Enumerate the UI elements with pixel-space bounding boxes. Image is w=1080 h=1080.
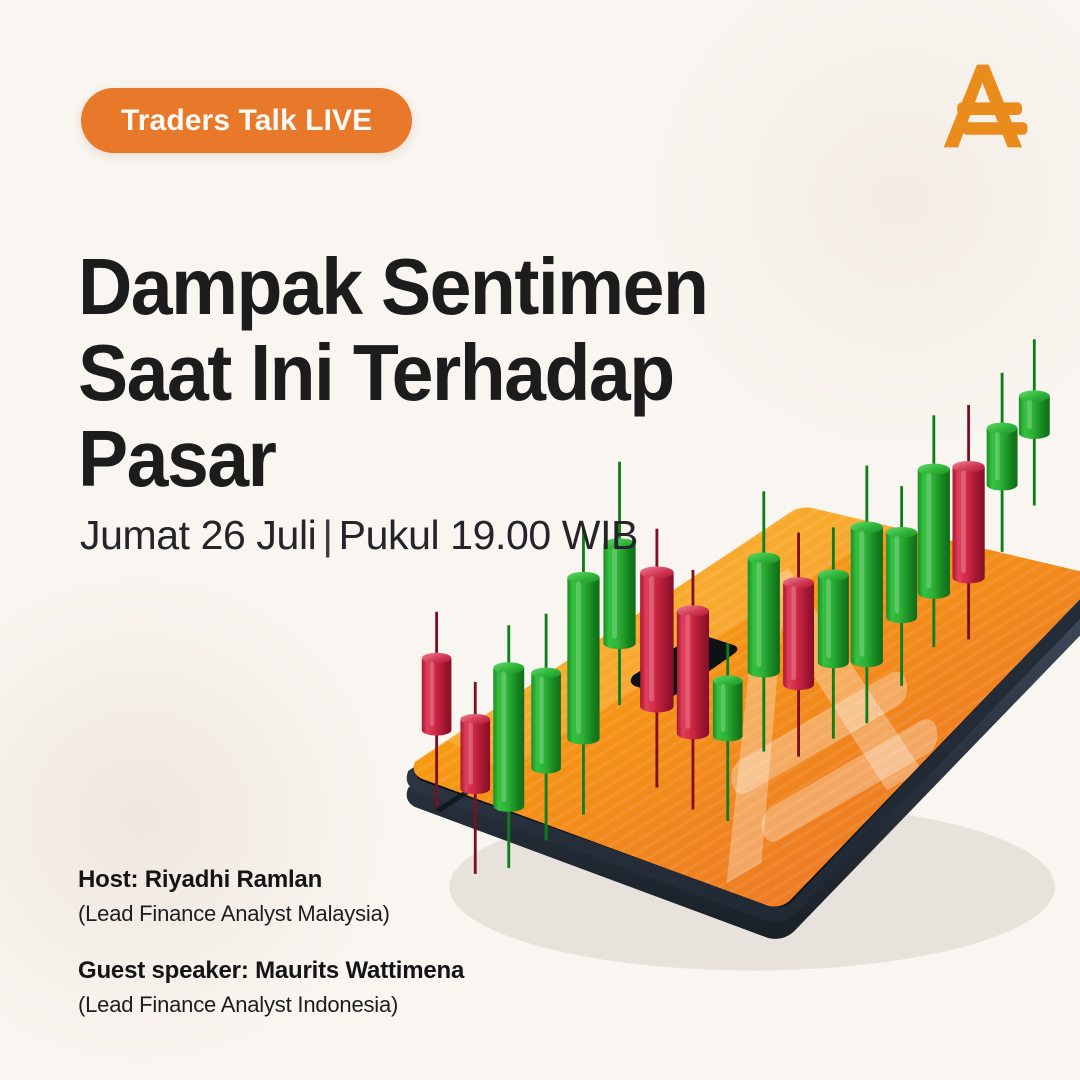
- candle-highlight: [826, 578, 831, 658]
- candle-wick-upper: [545, 614, 548, 677]
- event-date: Jumat 26 Juli: [80, 512, 316, 558]
- candle-top-cap: [713, 675, 743, 686]
- headline-line-1: Dampak Sentimen: [78, 244, 811, 330]
- candle-top-cap: [748, 553, 780, 565]
- event-time: Pukul 19.00 WIB: [339, 512, 638, 558]
- candle-highlight: [961, 470, 966, 573]
- candle-2: [460, 682, 490, 874]
- candle-top-cap: [783, 577, 814, 588]
- candle-body: [531, 673, 561, 774]
- guest-credit: Guest speaker: Maurits Wattimena (Lead F…: [78, 957, 548, 1018]
- candle-body: [953, 467, 985, 584]
- candle-top-cap: [640, 566, 673, 578]
- candle-highlight: [612, 548, 617, 639]
- candle-top-cap: [987, 423, 1018, 434]
- candle-top-cap: [460, 714, 490, 725]
- candle-top-cap: [818, 569, 849, 580]
- candle-body: [603, 544, 635, 649]
- candle-body: [886, 533, 917, 624]
- candle-highlight: [995, 432, 1000, 481]
- candle-highlight: [859, 531, 864, 657]
- candle-wick-lower: [832, 659, 835, 739]
- datetime-separator: |: [316, 512, 338, 558]
- candle-highlight: [576, 581, 581, 734]
- candle-body: [987, 428, 1018, 490]
- candle-body: [783, 583, 814, 690]
- guest-role: (Lead Finance Analyst Indonesia): [78, 992, 548, 1018]
- candle-body: [918, 469, 950, 598]
- candle-wick-lower: [545, 764, 548, 840]
- candle-wick-lower: [655, 703, 658, 788]
- candle-top-cap: [677, 605, 709, 617]
- candle-wick-lower: [762, 668, 765, 752]
- candle-top-cap: [1019, 390, 1050, 401]
- candle-wick-lower: [582, 735, 585, 815]
- candle-wick-upper: [967, 405, 970, 471]
- candle-highlight: [468, 723, 472, 785]
- candle-wick-lower: [474, 785, 477, 874]
- candle-wick-lower: [507, 802, 510, 868]
- live-badge-label: Traders Talk LIVE: [121, 104, 372, 138]
- page-title: Dampak Sentimen Saat Ini Terhadap Pasar: [78, 244, 811, 503]
- poster-canvas: Traders Talk LIVE Dampak Sentimen Saat I…: [0, 0, 1080, 1080]
- candle-body: [567, 578, 599, 745]
- candle-18: [1019, 339, 1050, 505]
- candle-highlight: [1027, 399, 1032, 429]
- headline-line-2: Saat Ini Terhadap: [78, 330, 811, 416]
- headline-line-3: Pasar: [78, 416, 811, 502]
- candle-wick-lower: [618, 639, 621, 705]
- guest-name: Guest speaker: Maurits Wattimena: [78, 957, 548, 985]
- candle-body: [493, 668, 524, 812]
- candle-17: [987, 373, 1018, 552]
- candle-wick-lower: [967, 574, 970, 640]
- candle-wick-lower: [1001, 481, 1004, 552]
- candle-wick-lower: [692, 730, 695, 810]
- candle-highlight: [791, 586, 796, 680]
- candle-body: [640, 572, 673, 712]
- candle-top-cap: [531, 668, 561, 679]
- candle-top-cap: [567, 572, 599, 584]
- candle-body: [422, 658, 452, 735]
- candle-top-cap: [493, 662, 524, 673]
- host-name: Host: Riyadhi Ramlan: [78, 866, 548, 894]
- candle-top-cap: [886, 527, 917, 538]
- candle-highlight: [721, 684, 725, 732]
- candle-top-cap: [422, 653, 452, 664]
- candle-body: [818, 575, 849, 668]
- host-role: (Lead Finance Analyst Malaysia): [78, 901, 548, 927]
- candle-highlight: [686, 615, 691, 729]
- live-badge[interactable]: Traders Talk LIVE: [81, 88, 412, 153]
- host-credit: Host: Riyadhi Ramlan (Lead Finance Analy…: [78, 866, 548, 927]
- candle-body: [460, 719, 490, 794]
- a-logo-icon: [944, 65, 1028, 148]
- candle-wick-lower: [435, 726, 438, 807]
- candle-body: [851, 527, 883, 667]
- speaker-credits: Host: Riyadhi Ramlan (Lead Finance Analy…: [78, 866, 548, 1018]
- candle-highlight: [895, 536, 900, 613]
- candle-highlight: [756, 562, 761, 667]
- candle-top-cap: [953, 461, 985, 473]
- candle-top-cap: [851, 522, 883, 534]
- candle-wick-lower: [900, 614, 903, 686]
- candle-highlight: [502, 671, 507, 802]
- candle-highlight: [430, 661, 434, 726]
- candle-wick-lower: [726, 732, 729, 821]
- candle-body: [713, 681, 743, 742]
- candle-body: [1019, 396, 1050, 439]
- candle-wick-lower: [865, 657, 868, 723]
- candle-highlight: [926, 473, 931, 589]
- candle-wick-upper: [865, 466, 868, 532]
- event-datetime: Jumat 26 Juli|Pukul 19.00 WIB: [80, 512, 638, 559]
- candle-body: [748, 558, 780, 677]
- brand-logo: [932, 52, 1040, 160]
- candle-body: [677, 611, 709, 739]
- candle-highlight: [539, 676, 543, 764]
- candle-wick-lower: [797, 681, 800, 757]
- candle-wick-lower: [1033, 429, 1036, 505]
- candle-highlight: [649, 576, 654, 702]
- candle-top-cap: [918, 464, 950, 476]
